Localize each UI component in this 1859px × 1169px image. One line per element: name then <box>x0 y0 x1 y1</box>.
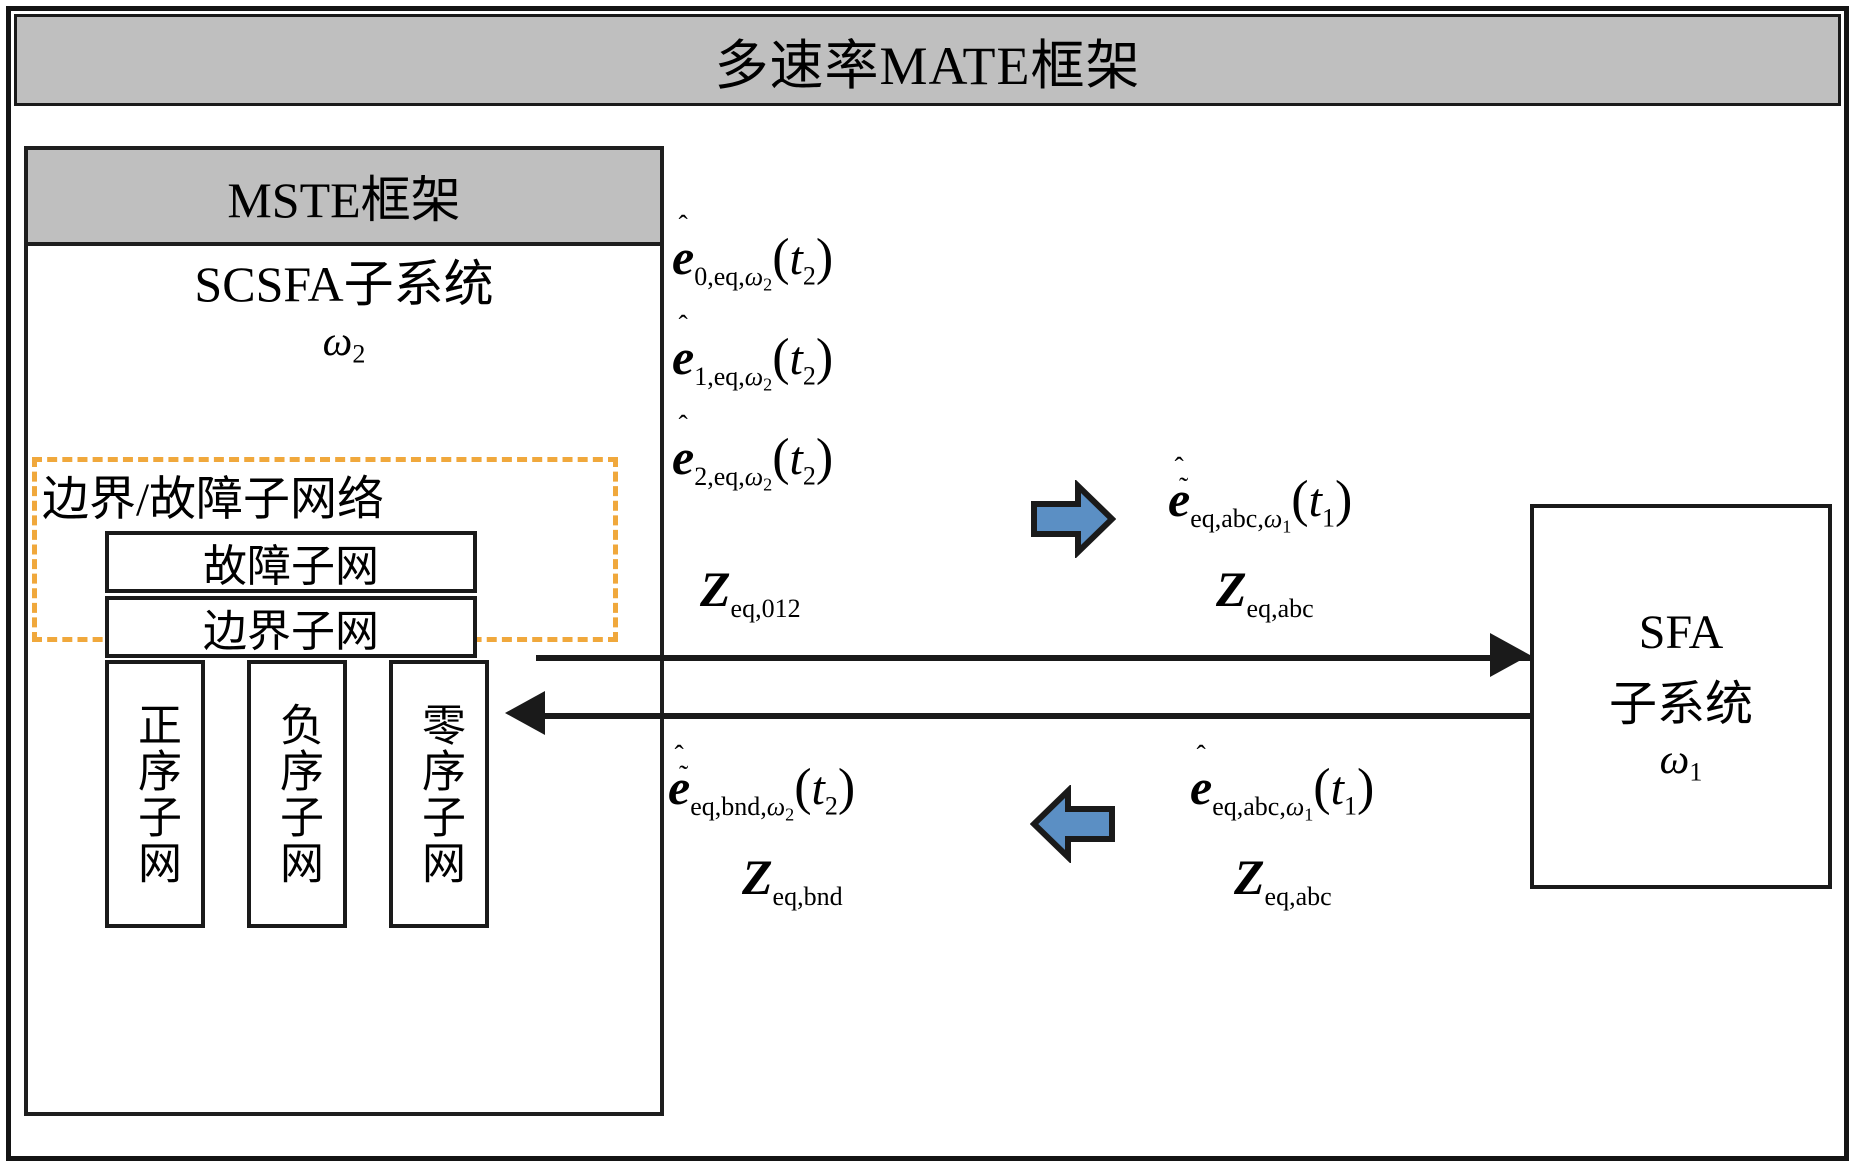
arrowhead-into-sfa <box>1490 633 1530 677</box>
arrowhead-into-boundary-subnet <box>505 691 545 735</box>
fault-subnet-box[interactable]: 故障子网 <box>105 531 477 593</box>
t-subscript-abc-bot: 1 <box>1344 791 1357 820</box>
t-subscript-bnd: 2 <box>825 791 838 820</box>
diagram-canvas: 多速率MATE框架 MSTE框架 SCSFA子系统 ω2 边界/故障子网络 故障… <box>0 0 1859 1169</box>
paren-open-1: ( <box>772 329 789 386</box>
e-variable-1: ̂e <box>672 329 694 385</box>
connector-line-to-sfa <box>536 655 1536 661</box>
zero-sequence-subnet-box[interactable]: 零序子网 <box>389 660 489 928</box>
blue-arrow-left-icon <box>1030 785 1116 863</box>
math-Z-eq-012: Zeq,012 <box>700 560 801 624</box>
math-Z-eq-bnd: Zeq,bnd <box>742 848 843 912</box>
Z-subscript-012: eq,012 <box>731 594 801 623</box>
e-bnd-subscript: eq,bnd,ω2 <box>690 792 794 821</box>
t-variable-bnd: t <box>812 762 825 815</box>
boundary-subnet-label: 边界子网 <box>203 595 379 659</box>
t-subscript-2: 2 <box>803 461 816 490</box>
sfa-label-line2: 子系统 <box>1609 664 1753 734</box>
paren-open-abc-bot: ( <box>1313 759 1330 816</box>
e-abc-bot-subscript: eq,abc,ω1 <box>1212 792 1313 821</box>
negative-sequence-subnet-box[interactable]: 负序子网 <box>247 660 347 928</box>
omega-subscript: 2 <box>352 339 365 368</box>
math-e-eq-abc-omega1-bottom: ̂eeq,abc,ω1(t1) <box>1190 758 1374 825</box>
paren-close-abc-bot: ) <box>1357 759 1374 816</box>
fault-subnet-label: 故障子网 <box>203 530 379 594</box>
math-Z-eq-abc-top: Zeq,abc <box>1216 560 1314 624</box>
paren-close-1: ) <box>816 329 833 386</box>
t-subscript-mid: 1 <box>1322 503 1335 532</box>
omega-symbol: ω <box>323 319 353 365</box>
Z-variable-bnd: Z <box>742 849 773 905</box>
paren-open-mid: ( <box>1291 471 1308 528</box>
connector-line-from-sfa <box>545 713 1535 719</box>
paren-close-mid: ) <box>1335 471 1352 528</box>
e-variable-2: ̂e <box>672 429 694 485</box>
sfa-omega: ω1 <box>1660 736 1703 787</box>
blue-arrow-right-icon <box>1030 480 1116 558</box>
math-Z-eq-abc-bottom: Zeq,abc <box>1234 848 1332 912</box>
page-title: 多速率MATE框架 <box>715 21 1141 100</box>
e1-subscript: 1,eq,ω2 <box>694 362 772 391</box>
scsfa-subsystem-omega: ω2 <box>28 318 660 369</box>
scsfa-subsystem-label: SCSFA子系统 <box>28 258 660 310</box>
Z-subscript-abc-top: eq,abc <box>1247 594 1314 623</box>
t-variable-2: t <box>790 432 803 485</box>
Z-subscript-bnd: eq,bnd <box>773 882 843 911</box>
Z-subscript-abc-bot: eq,abc <box>1265 882 1332 911</box>
paren-close-2: ) <box>816 429 833 486</box>
t-subscript-1: 2 <box>803 361 816 390</box>
t-subscript-0: 2 <box>803 261 816 290</box>
diagram-title-bar: 多速率MATE框架 <box>14 14 1841 106</box>
positive-sequence-subnet-label: 正序子网 <box>133 702 177 886</box>
e-variable-bnd: ̂̃e <box>668 759 690 815</box>
mste-framework-header: MSTE框架 <box>28 150 660 246</box>
positive-sequence-subnet-box[interactable]: 正序子网 <box>105 660 205 928</box>
negative-sequence-subnet-label: 负序子网 <box>275 702 319 886</box>
paren-open-2: ( <box>772 429 789 486</box>
math-e0-eq-omega2: ̂e0,eq,ω2(t2) <box>672 228 833 295</box>
math-e-eq-abc-omega1-top: ̂̃eeq,abc,ω1(t1) <box>1168 470 1352 537</box>
math-e2-eq-omega2: ̂e2,eq,ω2(t2) <box>672 428 833 495</box>
t-variable-abc-bot: t <box>1331 762 1344 815</box>
e-variable-abc-bot: ̂e <box>1190 759 1212 815</box>
e-mid-subscript: eq,abc,ω1 <box>1190 504 1291 533</box>
zero-sequence-subnet-label: 零序子网 <box>417 702 461 886</box>
sfa-label-line1: SFA <box>1639 605 1724 660</box>
paren-close-0: ) <box>816 229 833 286</box>
boundary-fault-subnetwork-label: 边界/故障子网络 <box>36 460 622 529</box>
math-e1-eq-omega2: ̂e1,eq,ω2(t2) <box>672 328 833 395</box>
paren-open-bnd: ( <box>794 759 811 816</box>
t-variable-0: t <box>790 232 803 285</box>
e-variable-0: ̂e <box>672 229 694 285</box>
paren-open-0: ( <box>772 229 789 286</box>
t-variable-mid: t <box>1309 474 1322 527</box>
e2-subscript: 2,eq,ω2 <box>694 462 772 491</box>
mste-framework-title: MSTE框架 <box>227 160 460 232</box>
Z-variable-abc-bot: Z <box>1234 849 1265 905</box>
Z-variable-abc-top: Z <box>1216 561 1247 617</box>
Z-variable-012: Z <box>700 561 731 617</box>
e-variable-mid: ̂̃e <box>1168 471 1190 527</box>
boundary-subnet-box[interactable]: 边界子网 <box>105 596 477 658</box>
t-variable-1: t <box>790 332 803 385</box>
math-e-eq-bnd-omega2: ̂̃eeq,bnd,ω2(t2) <box>668 758 855 825</box>
sfa-subsystem-box[interactable]: SFA 子系统 ω1 <box>1530 504 1832 889</box>
e0-subscript: 0,eq,ω2 <box>694 262 772 291</box>
paren-close-bnd: ) <box>838 759 855 816</box>
